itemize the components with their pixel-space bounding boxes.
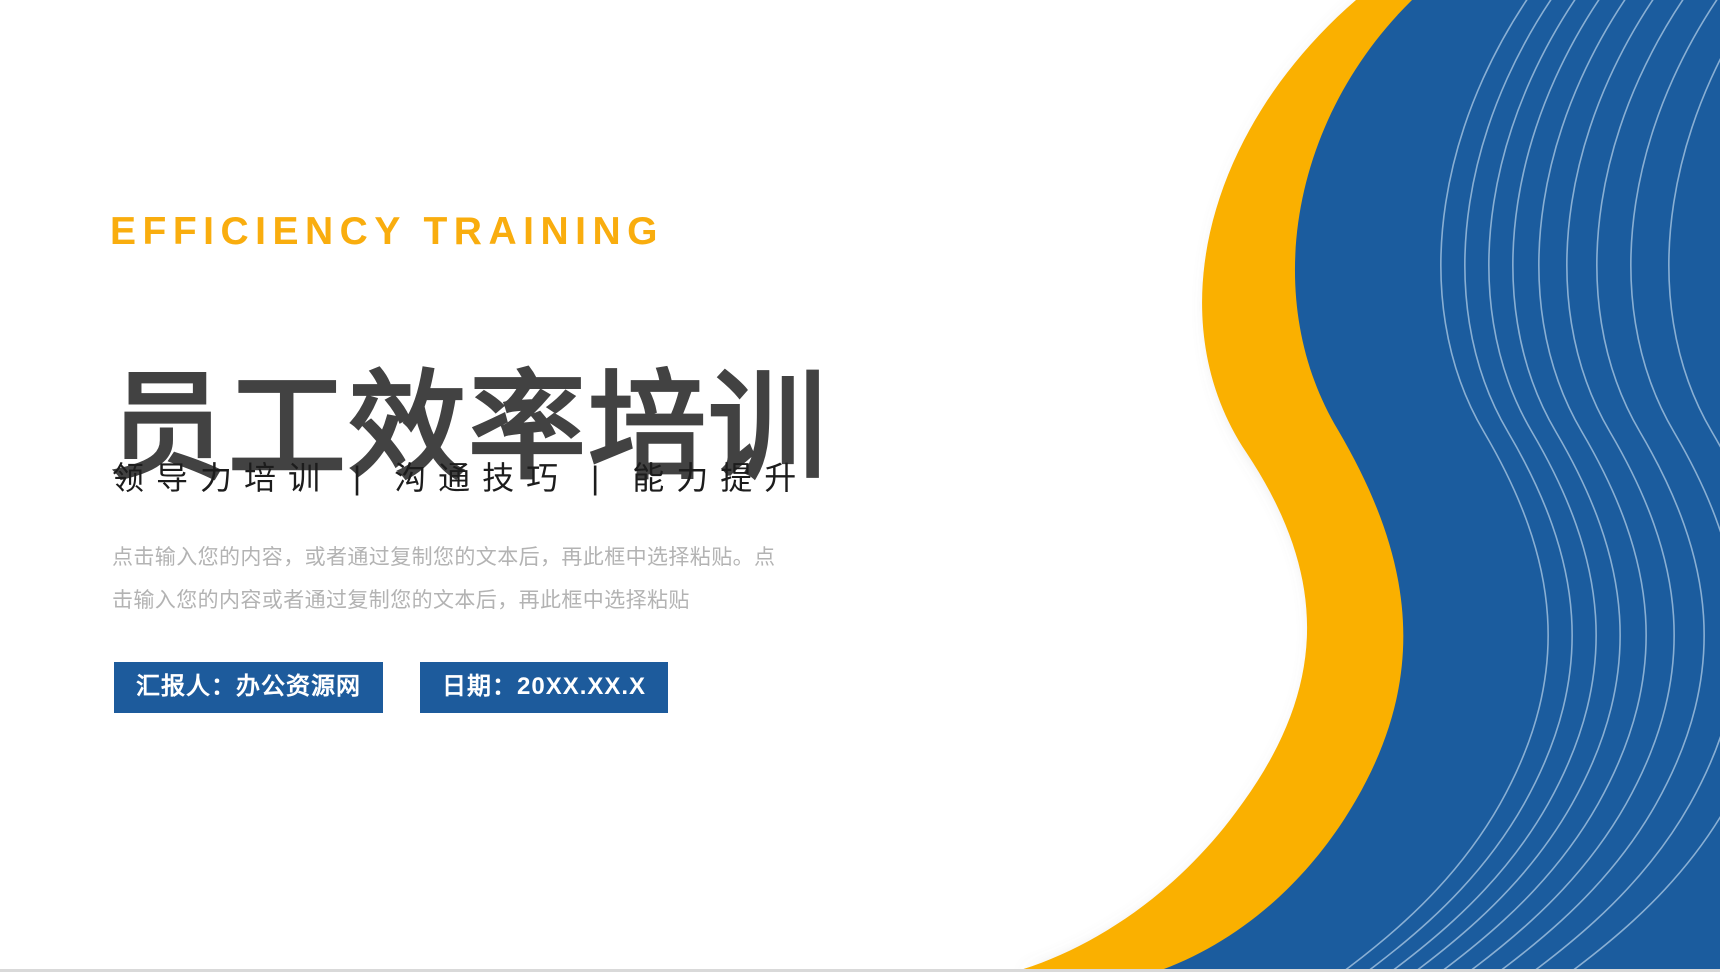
slide-text-column: EFFICIENCY TRAINING 员工效率培训 领导力培训 | 沟通技巧 … [108,0,948,972]
body-paragraph: 点击输入您的内容，或者通过复制您的文本后，再此框中选择粘贴。点 击输入您的内容或… [112,536,842,622]
blue-wave [1156,0,1720,972]
orange-wave [1014,0,1508,972]
subtitle-tagline: 领导力培训 | 沟通技巧 | 能力提升 [112,458,808,500]
body-paragraph-line: 击输入您的内容或者通过复制您的文本后，再此框中选择粘贴 [112,579,842,622]
s-curve-wave-graphic [960,0,1720,972]
date-badge[interactable]: 日期：20XX.XX.X [420,662,668,713]
presentation-slide: EFFICIENCY TRAINING 员工效率培训 领导力培训 | 沟通技巧 … [0,0,1720,972]
body-paragraph-line: 点击输入您的内容，或者通过复制您的文本后，再此框中选择粘贴。点 [112,536,842,579]
eyebrow-heading: EFFICIENCY TRAINING [110,212,664,251]
presenter-badge[interactable]: 汇报人：办公资源网 [114,662,383,713]
blue-wave-thin-lines [1290,0,1720,972]
meta-badge-row: 汇报人：办公资源网 日期：20XX.XX.X [114,662,668,713]
